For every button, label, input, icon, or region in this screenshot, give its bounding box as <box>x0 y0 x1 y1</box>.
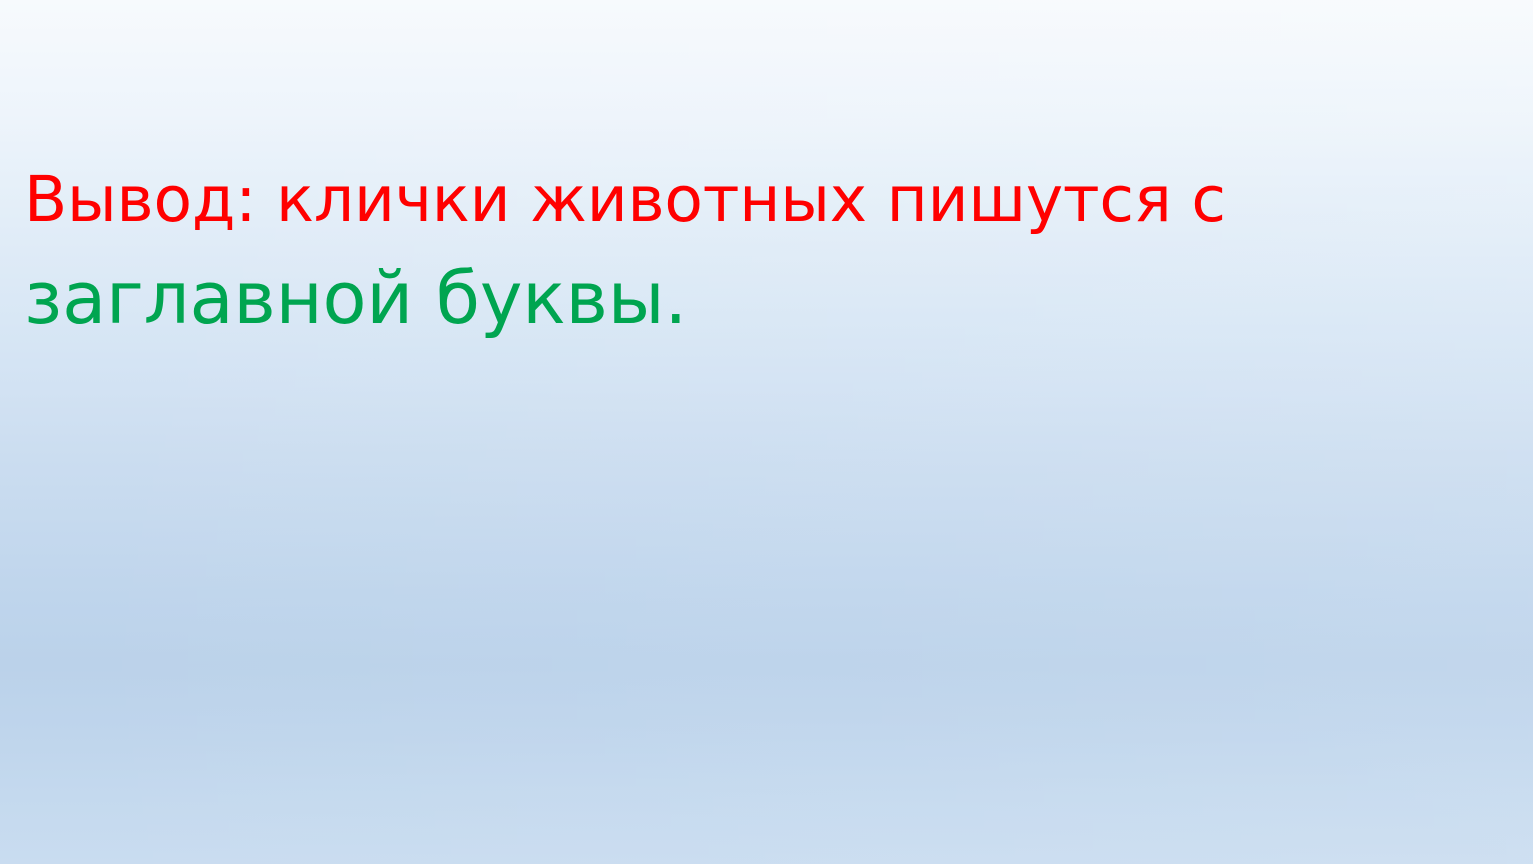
slide-text-block: Вывод: клички животных пишутся с заглавн… <box>24 152 1473 348</box>
conclusion-line-red: Вывод: клички животных пишутся с <box>24 152 1473 248</box>
conclusion-line-green: заглавной буквы. <box>24 248 1473 348</box>
presentation-slide: Вывод: клички животных пишутся с заглавн… <box>0 0 1533 864</box>
